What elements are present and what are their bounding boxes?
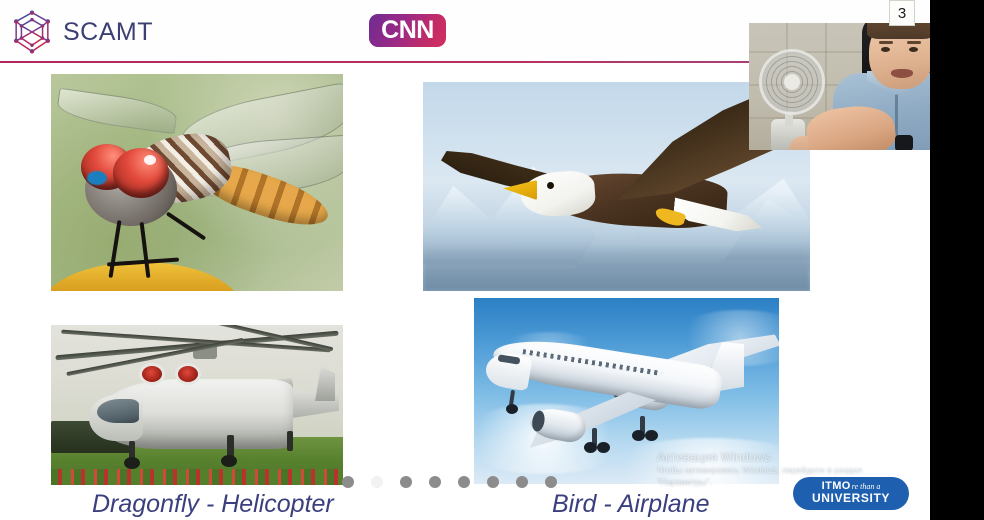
dragonfly-eye-highlight-blue [87,171,107,185]
dragonfly-eye-near [113,148,169,198]
nav-dot[interactable] [516,476,528,488]
presenter-eyebrow [907,41,921,44]
nav-dot[interactable] [458,476,470,488]
nav-dot[interactable] [429,476,441,488]
helicopter-engine-intake [175,363,201,385]
hexagonal-network-logo-icon [10,10,54,54]
nav-dot[interactable] [545,476,557,488]
helicopter-wheel [124,457,140,469]
photo-airplane [474,298,779,484]
cnn-logo: CNN [369,14,446,47]
airplane-tire [597,442,610,453]
right-letterbox [930,0,984,520]
slide-number-badge: 3 [889,0,915,26]
fan-grille [762,52,822,112]
presenter-wristwatch [895,135,913,150]
cnn-logo-text: CNN [381,18,434,43]
airplane-tire [632,430,645,441]
screen-root: SCAMT CNN [0,0,984,520]
flower-bed [51,469,343,485]
presenter-mouth [891,69,913,78]
presenter-eyebrow [879,41,893,44]
brand-name-label: SCAMT [63,20,153,45]
helicopter-wheel [221,455,237,467]
caption-dragonfly-helicopter: Dragonfly - Helicopter [92,490,334,519]
airplane-tire [506,404,518,414]
nav-dot[interactable] [487,476,499,488]
helicopter-engine-intake [139,363,165,385]
webcam-electric-fan [759,49,825,115]
itmo-university-logo: ITMO re than a UNIVERSITY [793,477,909,510]
itmo-logo-line-2: UNIVERSITY [812,492,890,505]
nav-dot[interactable] [342,476,354,488]
nav-dot[interactable] [400,476,412,488]
airplane-tire [584,442,597,453]
slide-number-text: 3 [898,6,906,21]
itmo-script-text: re than a [852,483,881,491]
eagle-horizon-haze [423,245,810,291]
presenter-eye [881,47,890,52]
nav-dot-active[interactable] [371,476,383,488]
brand-scamt: SCAMT [10,10,153,54]
helicopter-cockpit-glass [97,399,139,423]
caption-bird-airplane: Bird - Airplane [552,490,709,519]
slide-navigation-dots[interactable] [342,476,557,488]
photo-helicopter [51,325,343,485]
helicopter-landing-gear [287,431,293,451]
presenter-eye [909,47,918,52]
photo-dragonfly [51,74,343,291]
airplane-tire [645,430,658,441]
eagle-eye [547,182,554,189]
dragonfly-eye-specular [144,155,156,165]
